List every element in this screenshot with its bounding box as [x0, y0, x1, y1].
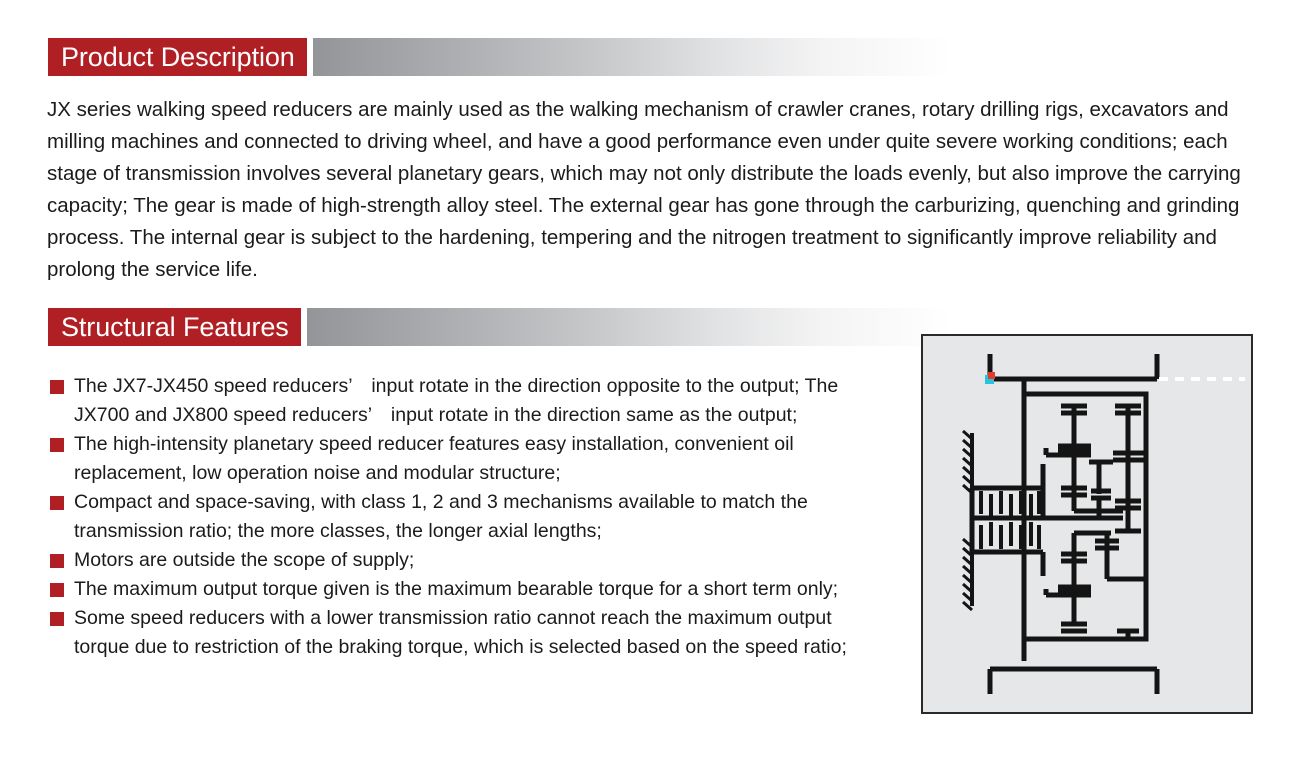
gear-schematic-diagram	[921, 334, 1253, 714]
product-description-paragraph: JX series walking speed reducers are mai…	[47, 94, 1262, 286]
list-item: Compact and space-saving, with class 1, …	[50, 488, 870, 546]
structural-features-list: The JX7-JX450 speed reducers’ input rota…	[50, 372, 870, 662]
list-item: The maximum output torque given is the m…	[50, 575, 870, 604]
bullet-square-icon	[50, 554, 64, 568]
list-item-text: The high-intensity planetary speed reduc…	[74, 430, 870, 488]
section-header-product-description: Product Description	[48, 38, 953, 76]
list-item-text: The JX7-JX450 speed reducers’ input rota…	[74, 372, 870, 430]
list-item-text: Compact and space-saving, with class 1, …	[74, 488, 870, 546]
list-item: The JX7-JX450 speed reducers’ input rota…	[50, 372, 870, 430]
brake-disc-stack-lower	[981, 522, 1039, 549]
bullet-square-icon	[50, 612, 64, 626]
list-item: Motors are outside the scope of supply;	[50, 546, 870, 575]
planetary-gear-schematic-svg	[923, 336, 1251, 712]
bullet-square-icon	[50, 380, 64, 394]
list-item-text: Some speed reducers with a lower transmi…	[74, 604, 870, 662]
list-item-text: The maximum output torque given is the m…	[74, 575, 838, 604]
section-tag-structural-features: Structural Features	[48, 308, 301, 346]
section-gradient-bar-2	[307, 308, 953, 346]
list-item: Some speed reducers with a lower transmi…	[50, 604, 870, 662]
list-item: The high-intensity planetary speed reduc…	[50, 430, 870, 488]
section-tag-product-description: Product Description	[48, 38, 307, 76]
section-header-structural-features: Structural Features	[48, 308, 953, 346]
section-gradient-bar	[313, 38, 953, 76]
bullet-square-icon	[50, 583, 64, 597]
list-item-text: Motors are outside the scope of supply;	[74, 546, 414, 575]
bullet-square-icon	[50, 438, 64, 452]
bullet-square-icon	[50, 496, 64, 510]
brake-disc-stack-upper	[981, 491, 1039, 518]
